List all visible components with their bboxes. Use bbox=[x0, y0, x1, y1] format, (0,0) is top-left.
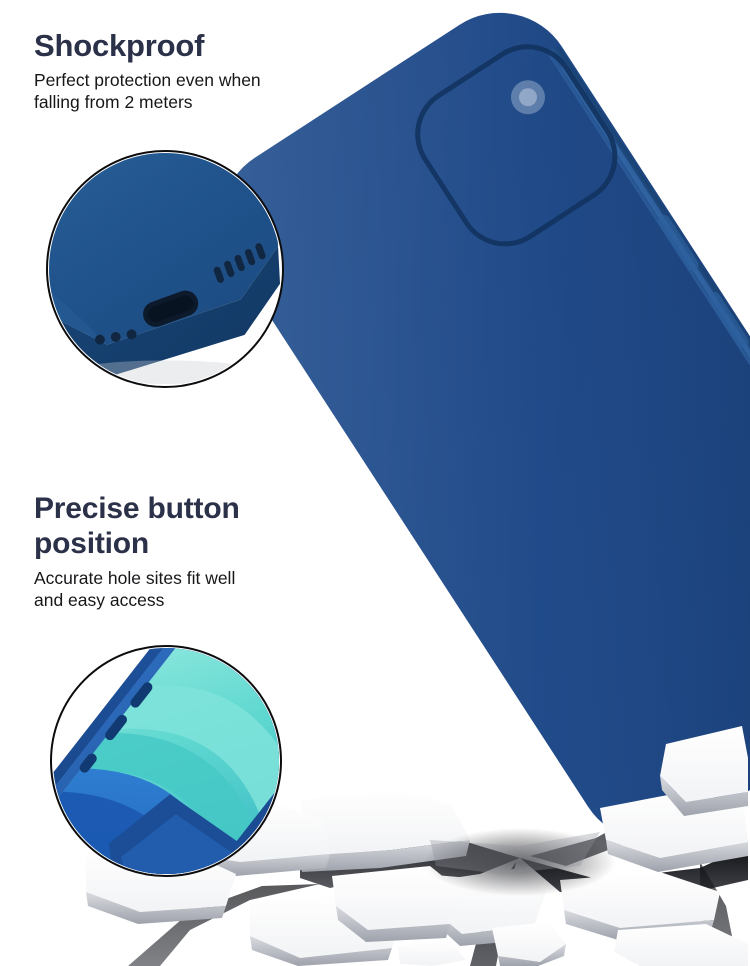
feature-heading-shockproof: Shockproof bbox=[34, 28, 354, 63]
feature-subtitle-precise-button-position: Accurate hole sites fit well and easy ac… bbox=[34, 567, 324, 611]
feature-heading-precise-button-position: Precise button position bbox=[34, 492, 324, 562]
rear-camera-module bbox=[400, 29, 632, 261]
inset-photo-button-cutout-closeup bbox=[50, 645, 282, 877]
impact-shadow bbox=[424, 828, 616, 896]
product-feature-image: Shockproof Perfect protection even when … bbox=[0, 0, 750, 966]
feature-block-shockproof: Shockproof Perfect protection even when … bbox=[34, 28, 354, 113]
screen-notch bbox=[243, 647, 280, 685]
feature-block-precise-button-position: Precise button position Accurate hole si… bbox=[34, 492, 324, 611]
volume-button-bump bbox=[656, 213, 701, 273]
feature-subtitle-shockproof: Perfect protection even when falling fro… bbox=[34, 69, 354, 113]
volume-button-bump bbox=[706, 290, 750, 350]
inset-photo-charging-port-closeup bbox=[46, 150, 284, 388]
